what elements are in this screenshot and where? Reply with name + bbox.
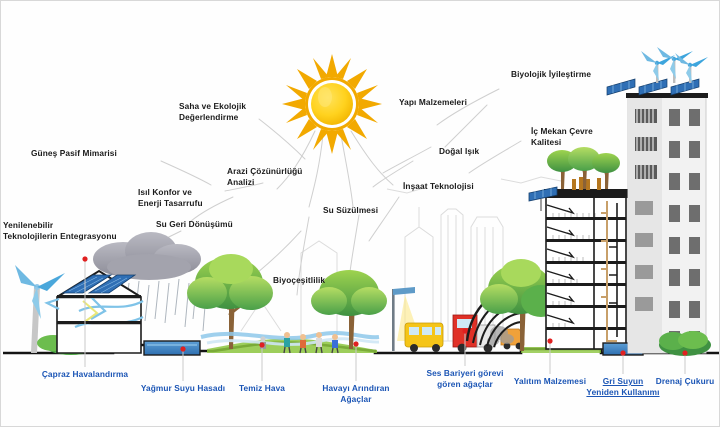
label-drenaj-cukuru: Drenaj Çukuru: [646, 376, 720, 387]
infographic-canvas: Güneş Pasif MimarisiYenilenebilir Teknol…: [0, 0, 720, 427]
label-biyolojik-iyilestirme: Biyolojik İyileştirme: [511, 69, 611, 80]
label-capraz-havalandirma: Çapraz Havalandırma: [31, 369, 139, 380]
label-ses-bariyeri: Ses Bariyeri görevi gören ağaçlar: [417, 368, 513, 389]
marker-havayi-arindiran: [353, 341, 358, 346]
rainwater-cistern: [144, 341, 200, 355]
tower-louvres: [635, 109, 657, 179]
truck: [453, 315, 495, 352]
marker-yagmur-suyu-hasadi: [180, 346, 185, 351]
label-gunes-pasif-mimarisi: Güneş Pasif Mimarisi: [31, 148, 146, 159]
label-yenilenebilir: Yenilenebilir Teknolojilerin Entegrasyon…: [3, 220, 121, 241]
label-saha-ve-ekolojik: Saha ve Ekolojik Değerlendirme: [179, 101, 269, 122]
marker-yalitim-malzemesi: [547, 338, 552, 343]
label-su-suzulmesi: Su Süzülmesi: [323, 205, 393, 216]
label-dogal-isik: Doğal Işık: [439, 146, 494, 157]
tower-wind-turbines: [641, 47, 708, 83]
label-yapi-malzemeleri: Yapı Malzemeleri: [399, 97, 487, 108]
label-su-geri-donusumu: Su Geri Dönüşümü: [156, 219, 248, 230]
label-havayi-arindiran: Havayı Arındıran Ağaçlar: [310, 383, 402, 404]
label-insaat-teknolojisi: İnşaat Teknolojisi: [403, 181, 491, 192]
roof-vents: [572, 177, 601, 190]
label-biyocesitlilik: Biyoçeşitlilik: [273, 275, 343, 286]
marker-temiz-hava: [259, 342, 264, 347]
label-temiz-hava: Temiz Hava: [227, 383, 297, 394]
marker-gri-suyun-yeniden: [620, 350, 625, 355]
label-yagmur-suyu-hasadi: Yağmur Suyu Hasadı: [133, 383, 233, 394]
roof-garden: [547, 147, 620, 189]
tower-solar-array: [607, 79, 699, 95]
label-ic-mekan-cevre: İç Mekan Çevre Kalitesi: [531, 126, 616, 147]
sun-icon: [282, 54, 382, 154]
marker-drenaj-cukuru: [682, 350, 687, 355]
marker-ses-bariyeri: [462, 328, 467, 333]
marker-capraz-havalandirma: [82, 256, 87, 261]
label-isil-konfor: Isıl Konfor ve Enerji Tasarrufu: [138, 187, 223, 208]
label-arazi-cozunurlugu: Arazi Çözünürlüğü Analizi: [227, 166, 322, 187]
bus: [405, 323, 443, 352]
